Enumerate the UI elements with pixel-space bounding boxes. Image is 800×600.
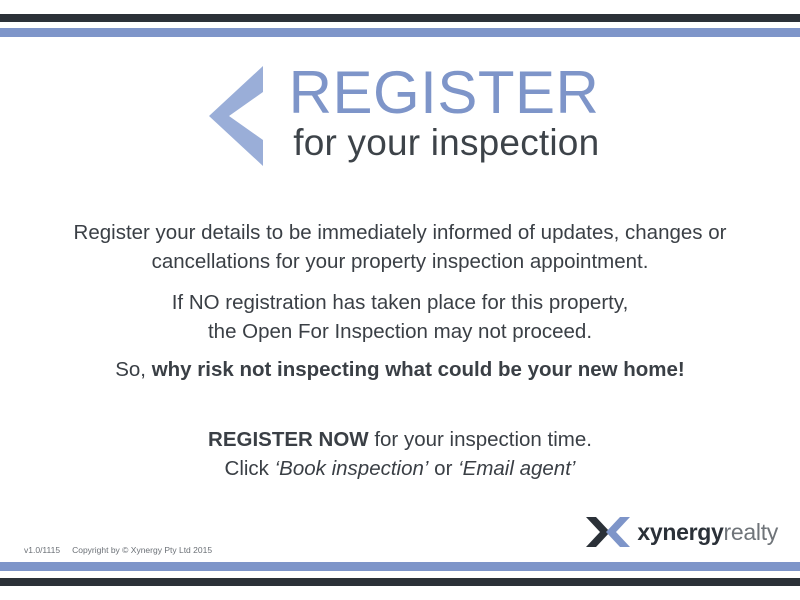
cta-line-1: REGISTER NOW for your inspection time. [0, 425, 800, 454]
intro-line-1: Register your details to be immediately … [0, 218, 800, 247]
warning-paragraph: If NO registration has taken place for t… [0, 288, 800, 346]
masthead: REGISTER for your inspection [0, 62, 800, 172]
intro-paragraph: Register your details to be immediately … [0, 218, 800, 276]
top-dark-rule [0, 14, 800, 22]
cta-register-now: REGISTER NOW [208, 428, 369, 451]
brand-suffix: realty [724, 519, 778, 545]
xynergy-x-logo-icon [586, 517, 630, 547]
risk-paragraph: So, why risk not inspecting what could b… [0, 355, 800, 384]
risk-emphasis: why risk not inspecting what could be yo… [152, 358, 685, 381]
version-label: v1.0/1115 [24, 545, 60, 555]
colophon: v1.0/1115Copyright by © Xynergy Pty Ltd … [24, 544, 212, 556]
cta-email-agent-label[interactable]: ‘Email agent’ [458, 457, 575, 480]
cta-or: or [428, 457, 458, 480]
top-accent-rule [0, 28, 800, 37]
chevron-left-icon [201, 66, 271, 166]
cta-line-1-rest: for your inspection time. [369, 428, 592, 451]
xynergy-wordmark: xynergyrealty [637, 519, 778, 545]
warning-line-2: the Open For Inspection may not proceed. [0, 317, 800, 346]
bottom-dark-rule [0, 578, 800, 586]
bottom-accent-rule [0, 562, 800, 571]
page-title: REGISTER [289, 62, 600, 124]
cta-paragraph: REGISTER NOW for your inspection time. C… [0, 425, 800, 483]
cta-line-2: Click ‘Book inspection’ or ‘Email agent’ [0, 454, 800, 483]
cta-book-inspection-label[interactable]: ‘Book inspection’ [275, 457, 429, 480]
copyright-label: Copyright by © Xynergy Pty Ltd 2015 [72, 545, 212, 555]
register-inspection-page: REGISTER for your inspection Register yo… [0, 0, 800, 600]
xynergy-realty-logo: xynergyrealty [586, 517, 778, 547]
risk-lead: So, [115, 358, 151, 381]
page-subtitle: for your inspection [293, 122, 599, 164]
intro-line-2: cancellations for your property inspecti… [0, 247, 800, 276]
cta-click-lead: Click [225, 457, 275, 480]
warning-line-1: If NO registration has taken place for t… [0, 288, 800, 317]
brand-name: xynergy [637, 519, 723, 545]
